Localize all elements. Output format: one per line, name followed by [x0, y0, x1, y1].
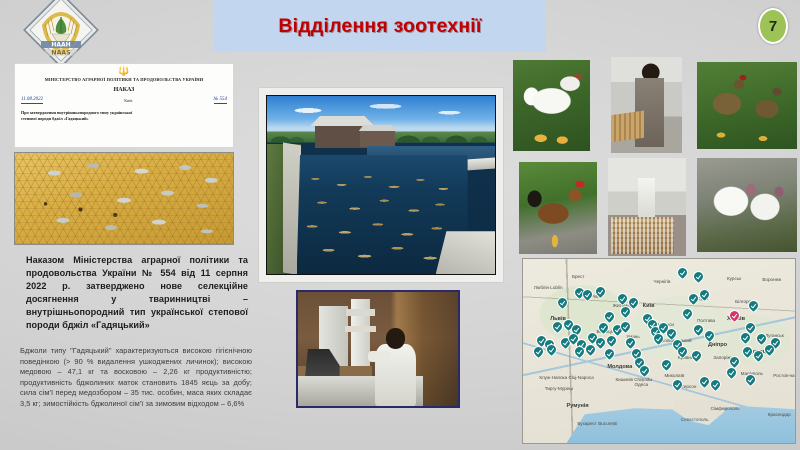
farm-shed — [360, 131, 394, 147]
map-city-label: Полтава — [697, 318, 715, 323]
photo-egg-packing-facility — [608, 158, 686, 256]
map-city-label: Сімферополь — [711, 406, 740, 411]
map-city-label: Молдова — [607, 364, 632, 370]
fish-school — [299, 171, 463, 271]
ukraine-trident-icon: 🔱 — [21, 67, 227, 76]
photo-two-brown-chickens — [697, 62, 797, 149]
map-city-label: Ростов-на-Д — [773, 373, 795, 378]
worker-eggs-image — [611, 57, 682, 153]
document-number: № 554 — [214, 97, 227, 104]
map-city-label: Херсон — [681, 384, 697, 389]
laboratory-photo — [296, 290, 460, 408]
map-city-label: Люблін Lublin — [534, 285, 563, 290]
map-city-label: Краснодар — [768, 412, 791, 417]
map-city-label: Тиргу-Муреш — [545, 386, 573, 391]
photo-brown-rooster — [519, 162, 597, 254]
map-city-label: Клуж-Напока Cluj-Napoca — [539, 375, 593, 380]
map-city-label: Севастополь — [681, 417, 709, 422]
document-order-heading: НАКАЗ — [21, 87, 227, 93]
pond-left-bank — [267, 144, 301, 274]
rooster-image — [519, 162, 597, 254]
egg-facility-image — [608, 158, 686, 256]
fish-farm-photo — [259, 88, 503, 282]
map-image: Люблін LublinБрестЧернігівКиївСумиКурськ… — [523, 259, 795, 443]
ukraine-farms-map: Люблін LublinБрестЧернігівКиївСумиКурськ… — [522, 258, 796, 444]
page-number-badge: 7 — [758, 8, 788, 44]
map-city-label: Воронеж — [762, 277, 781, 282]
ministry-order-document: 🔱 МІНІСТЕРСТВО АГРАРНОЇ ПОЛІТИКИ ТА ПРОД… — [14, 63, 234, 148]
map-city-label: Чернігів — [654, 279, 671, 284]
map-city-label: Київ — [643, 303, 655, 309]
honeycomb-bees-photo — [14, 152, 234, 245]
laboratory-image — [298, 292, 458, 406]
page-title: Відділення зоотехнії — [278, 15, 481, 38]
honeycomb-bees-image — [15, 153, 233, 244]
scientist-head — [386, 328, 405, 349]
white-hen-image — [513, 60, 590, 151]
map-city-label: Бухарест București — [577, 421, 617, 426]
map-city-label: Дніпро — [708, 342, 727, 348]
scientist-arm — [368, 351, 390, 361]
naas-logo: НААН NAAS — [19, 0, 103, 67]
slide-root: НААН NAAS Відділення зоотехнії 7 🔱 МІНІС… — [0, 0, 800, 450]
fish-farm-image — [266, 95, 496, 275]
document-city: Київ — [124, 98, 132, 103]
map-city-label: Курськ — [727, 276, 741, 281]
brown-chickens-image — [697, 62, 797, 149]
paragraph-bee-characteristics: Бджоли типу "Гадяцький" характеризуються… — [20, 346, 252, 409]
map-city-label: Миколаїв — [664, 373, 684, 378]
photo-white-turkeys — [697, 158, 797, 252]
document-meta-row: 11.08.2022 Київ № 554 — [21, 97, 227, 104]
logo-abbr-en: NAAS — [51, 50, 70, 57]
document-ministry-line: МІНІСТЕРСТВО АГРАРНОЇ ПОЛІТИКИ ТА ПРОДОВ… — [21, 77, 227, 82]
logo-abbr-uk: НААН — [51, 42, 70, 49]
paragraph-order-summary: Наказом Міністерства аграрної політики т… — [26, 254, 248, 331]
electron-microscope-column — [351, 299, 370, 370]
document-subject: Про затвердження внутрішньопородного тип… — [21, 110, 149, 122]
clouds — [267, 100, 495, 121]
map-city-label: Румунія — [567, 403, 589, 409]
document-date: 11.08.2022 — [21, 97, 43, 104]
photo-white-hen-with-chicks — [513, 60, 590, 151]
title-band: Відділення зоотехнії — [214, 0, 546, 52]
map-city-label: Одеса — [635, 382, 649, 387]
photo-worker-sorting-eggs — [611, 57, 682, 153]
map-city-label: Брест — [572, 274, 585, 279]
map-city-label: Кишинів Chișinău — [615, 377, 652, 382]
white-turkeys-image — [697, 158, 797, 252]
